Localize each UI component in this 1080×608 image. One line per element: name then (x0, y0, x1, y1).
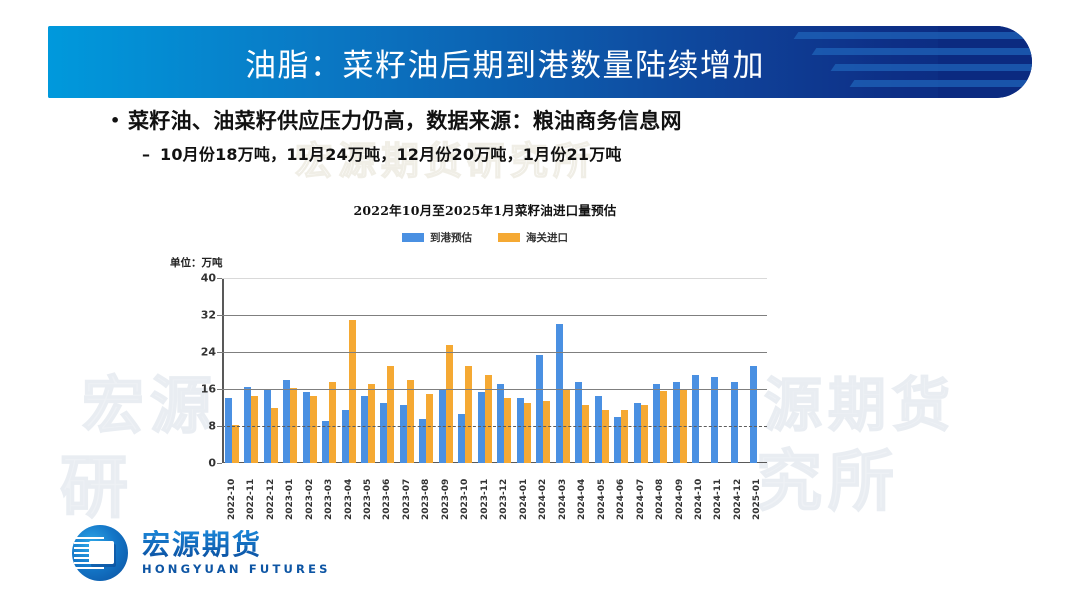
chart-unit-label: 单位：万吨 (170, 255, 223, 270)
x-axis-label: 2023-01 (280, 465, 299, 520)
legend-item-1[interactable]: 海关进口 (498, 230, 568, 245)
bar-arrival-forecast[interactable] (556, 324, 563, 463)
x-axis-label-text: 2023-02 (305, 465, 315, 520)
x-axis-label-text: 2024-12 (733, 465, 743, 520)
x-axis-label-text: 2023-12 (499, 465, 509, 520)
x-axis-label-text: 2023-08 (421, 465, 431, 520)
bar-group (358, 278, 377, 463)
x-axis-label: 2024-10 (689, 465, 708, 520)
x-axis-label-text: 2024-09 (675, 465, 685, 520)
bar-arrival-forecast[interactable] (361, 396, 368, 463)
x-axis-label: 2023-11 (475, 465, 494, 520)
x-axis-label: 2024-12 (728, 465, 747, 520)
x-axis-label-text: 2023-07 (402, 465, 412, 520)
bar-arrival-forecast[interactable] (595, 396, 602, 463)
bullet-primary-text: 菜籽油、油菜籽供应压力仍高，数据来源：粮油商务信息网 (128, 108, 682, 135)
watermark-top-right: 源期货 (764, 358, 956, 442)
logo-text: 宏源期货 HONGYUAN FUTURES (142, 530, 331, 576)
x-axis-label: 2025-01 (748, 465, 767, 520)
x-axis-label: 2023-06 (378, 465, 397, 520)
chart-bars (222, 278, 767, 463)
bar-group (514, 278, 533, 463)
bar-group (611, 278, 630, 463)
gridline (222, 352, 767, 353)
bar-group (572, 278, 591, 463)
x-axis-label-text: 2023-11 (480, 465, 490, 520)
x-axis-label-text: 2025-01 (752, 465, 762, 520)
x-axis-label-text: 2024-05 (597, 465, 607, 520)
bullet-list: • 菜籽油、油菜籽供应压力仍高，数据来源：粮油商务信息网 – 10月份18万吨，… (110, 108, 990, 166)
x-axis-label-text: 2024-01 (519, 465, 529, 520)
chart-title: 2022年10月至2025年1月菜籽油进口量预估 (200, 200, 770, 219)
bar-group (261, 278, 280, 463)
bar-customs-import[interactable] (582, 405, 589, 463)
gridline (222, 426, 767, 427)
x-axis-label: 2023-04 (339, 465, 358, 520)
x-axis-label-text: 2024-04 (577, 465, 587, 520)
chart-legend: 到港预估海关进口 (200, 230, 770, 245)
bar-arrival-forecast[interactable] (497, 384, 504, 463)
x-axis-labels: 2022-102022-112022-122023-012023-022023-… (222, 465, 767, 520)
bar-group (397, 278, 416, 463)
x-axis-label: 2024-08 (650, 465, 669, 520)
watermark-bottom-left: 研 (60, 432, 134, 531)
page-title: 油脂：菜籽油后期到港数量陆续增加 (48, 26, 1032, 98)
x-axis-label: 2023-03 (319, 465, 338, 520)
bullet-dash-icon: – (142, 144, 160, 166)
x-axis-label-text: 2022-11 (246, 465, 256, 520)
gridline (222, 389, 767, 390)
x-axis-label: 2024-02 (534, 465, 553, 520)
bar-customs-import[interactable] (426, 394, 433, 463)
bar-customs-import[interactable] (524, 403, 531, 463)
bar-group (689, 278, 708, 463)
bar-group (475, 278, 494, 463)
bar-group (456, 278, 475, 463)
legend-label: 到港预估 (430, 230, 472, 245)
chart-plot-area: 0816243240 (222, 278, 767, 463)
x-axis-label: 2023-07 (397, 465, 416, 520)
legend-swatch-icon (498, 233, 520, 242)
bullet-secondary: – 10月份18万吨，11月24万吨，12月份20万吨，1月份21万吨 (142, 144, 990, 166)
y-axis-tick-mark (217, 389, 222, 390)
x-axis-label: 2022-12 (261, 465, 280, 520)
bar-group (748, 278, 767, 463)
bar-customs-import[interactable] (660, 391, 667, 463)
bar-group (592, 278, 611, 463)
bar-group (339, 278, 358, 463)
x-axis-label-text: 2024-07 (636, 465, 646, 520)
bar-arrival-forecast[interactable] (283, 380, 290, 463)
bar-arrival-forecast[interactable] (614, 417, 621, 463)
x-axis-label-text: 2022-10 (227, 465, 237, 520)
x-axis-label-text: 2023-09 (441, 465, 451, 520)
bar-arrival-forecast[interactable] (342, 410, 349, 463)
bar-customs-import[interactable] (465, 366, 472, 463)
bar-arrival-forecast[interactable] (575, 382, 582, 463)
bar-arrival-forecast[interactable] (400, 405, 407, 463)
bar-group (670, 278, 689, 463)
legend-swatch-icon (402, 233, 424, 242)
bar-arrival-forecast[interactable] (536, 355, 543, 463)
x-axis-label: 2023-10 (456, 465, 475, 520)
x-axis-label: 2024-11 (709, 465, 728, 520)
brand-logo: 宏源期货 HONGYUAN FUTURES (72, 525, 331, 581)
logo-text-en: HONGYUAN FUTURES (142, 562, 331, 576)
bar-customs-import[interactable] (368, 384, 375, 463)
x-axis-label-text: 2024-02 (538, 465, 548, 520)
bar-group (495, 278, 514, 463)
bar-arrival-forecast[interactable] (711, 377, 718, 463)
y-axis-tick-label: 16 (201, 383, 216, 396)
bar-customs-import[interactable] (329, 382, 336, 463)
bar-group (553, 278, 572, 463)
y-axis-tick-mark (217, 315, 222, 316)
y-axis-tick-mark (217, 278, 222, 279)
gridline (222, 278, 767, 279)
y-axis-tick-label: 0 (208, 457, 216, 470)
bar-customs-import[interactable] (446, 345, 453, 463)
x-axis-label-text: 2022-12 (266, 465, 276, 520)
x-axis-label: 2024-01 (514, 465, 533, 520)
y-axis-tick-mark (217, 463, 222, 464)
bar-group (280, 278, 299, 463)
gridline (222, 315, 767, 316)
x-axis-label: 2024-03 (553, 465, 572, 520)
y-axis-tick-label: 40 (201, 272, 216, 285)
bar-arrival-forecast[interactable] (634, 403, 641, 463)
bar-customs-import[interactable] (543, 401, 550, 463)
bar-customs-import[interactable] (641, 405, 648, 463)
bar-customs-import[interactable] (387, 366, 394, 463)
bar-group (631, 278, 650, 463)
bar-arrival-forecast[interactable] (673, 382, 680, 463)
y-axis-tick-label: 32 (201, 309, 216, 322)
legend-item-0[interactable]: 到港预估 (402, 230, 472, 245)
bar-group (650, 278, 669, 463)
bar-arrival-forecast[interactable] (750, 366, 757, 463)
bar-group (709, 278, 728, 463)
x-axis-label: 2024-04 (572, 465, 591, 520)
x-axis-label: 2023-05 (358, 465, 377, 520)
slide-canvas: 宏源 研 源期货 究所 宏源期货研究所 油脂：菜籽油后期到港数量陆续增加 • 菜… (0, 0, 1080, 608)
bar-group (728, 278, 747, 463)
bar-customs-import[interactable] (407, 380, 414, 463)
watermark-bottom-right: 究所 (756, 428, 900, 524)
bar-group (417, 278, 436, 463)
legend-label: 海关进口 (526, 230, 568, 245)
x-axis-label-text: 2023-05 (363, 465, 373, 520)
x-axis-label: 2023-12 (495, 465, 514, 520)
logo-text-cn: 宏源期货 (142, 530, 331, 560)
bar-arrival-forecast[interactable] (458, 414, 465, 463)
x-axis-label: 2023-02 (300, 465, 319, 520)
logo-square (89, 541, 114, 564)
bar-customs-import[interactable] (232, 425, 239, 463)
logo-mark-icon (72, 525, 128, 581)
title-band: 油脂：菜籽油后期到港数量陆续增加 (48, 26, 1032, 98)
bar-customs-import[interactable] (271, 408, 278, 464)
bar-arrival-forecast[interactable] (225, 398, 232, 463)
bar-arrival-forecast[interactable] (517, 398, 524, 463)
bar-group (319, 278, 338, 463)
bar-arrival-forecast[interactable] (244, 387, 251, 463)
x-axis-label-text: 2023-01 (285, 465, 295, 520)
x-axis-label-text: 2023-04 (344, 465, 354, 520)
x-axis-label-text: 2023-03 (324, 465, 334, 520)
x-axis-label: 2023-09 (436, 465, 455, 520)
bar-customs-import[interactable] (310, 396, 317, 463)
bar-arrival-forecast[interactable] (478, 392, 485, 463)
bullet-marker-icon: • (110, 108, 128, 134)
bar-customs-import[interactable] (621, 410, 628, 463)
chart-container: 2022年10月至2025年1月菜籽油进口量预估 到港预估海关进口 单位：万吨 … (170, 200, 770, 520)
bar-group (534, 278, 553, 463)
bar-arrival-forecast[interactable] (322, 421, 329, 463)
x-axis-label-text: 2024-10 (694, 465, 704, 520)
x-axis-label-text: 2023-06 (382, 465, 392, 520)
bar-customs-import[interactable] (251, 396, 258, 463)
y-axis-tick-label: 8 (208, 420, 216, 433)
bar-customs-import[interactable] (504, 398, 511, 463)
x-axis-label-text: 2023-10 (460, 465, 470, 520)
x-axis-label: 2022-10 (222, 465, 241, 520)
bullet-primary: • 菜籽油、油菜籽供应压力仍高，数据来源：粮油商务信息网 (110, 108, 990, 135)
x-axis-label: 2023-08 (417, 465, 436, 520)
bar-arrival-forecast[interactable] (653, 384, 660, 463)
bar-group (378, 278, 397, 463)
x-axis-label-text: 2024-06 (616, 465, 626, 520)
bar-group (241, 278, 260, 463)
bar-group (436, 278, 455, 463)
bar-group (300, 278, 319, 463)
bar-customs-import[interactable] (349, 320, 356, 463)
x-axis-label-text: 2024-11 (713, 465, 723, 520)
x-axis-label-text: 2024-08 (655, 465, 665, 520)
bar-customs-import[interactable] (602, 410, 609, 463)
y-axis-tick-label: 24 (201, 346, 216, 359)
x-axis-label: 2024-06 (611, 465, 630, 520)
x-axis-label: 2024-07 (631, 465, 650, 520)
bullet-secondary-text: 10月份18万吨，11月24万吨，12月份20万吨，1月份21万吨 (160, 144, 622, 166)
bar-arrival-forecast[interactable] (380, 403, 387, 463)
x-axis-label: 2022-11 (241, 465, 260, 520)
y-axis-tick-mark (217, 426, 222, 427)
bar-group (222, 278, 241, 463)
bar-arrival-forecast[interactable] (731, 382, 738, 463)
x-axis-label: 2024-09 (670, 465, 689, 520)
y-axis-tick-mark (217, 352, 222, 353)
bar-arrival-forecast[interactable] (303, 392, 310, 463)
x-axis-label-text: 2024-03 (558, 465, 568, 520)
x-axis-label: 2024-05 (592, 465, 611, 520)
